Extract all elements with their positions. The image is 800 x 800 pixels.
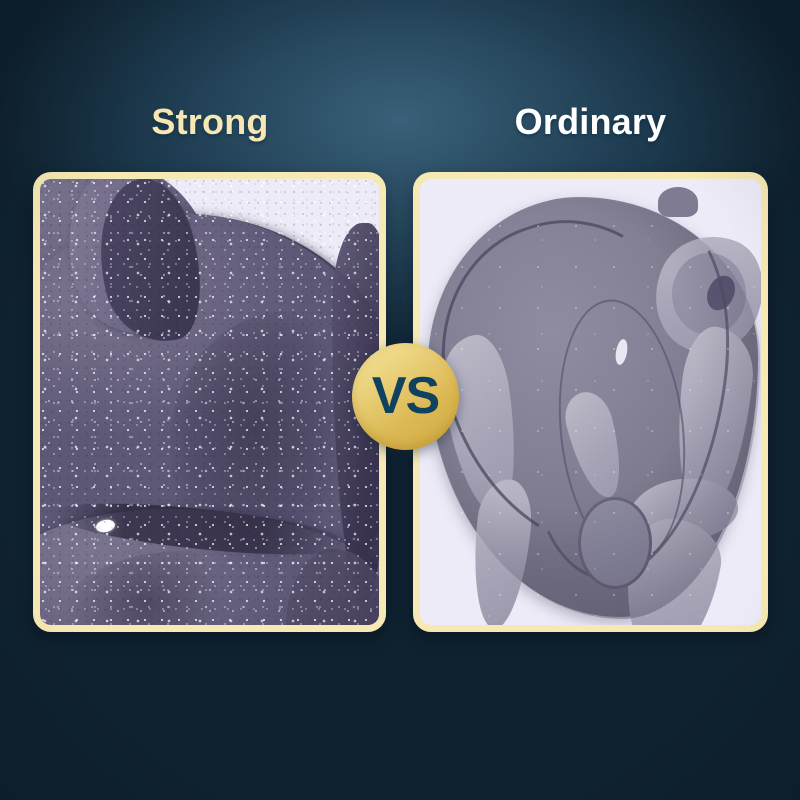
vs-badge: VS — [352, 343, 459, 450]
panel-ordinary — [413, 172, 768, 632]
panel-strong — [33, 172, 386, 632]
vs-label: VS — [372, 370, 439, 422]
comparison-graphic: Strong Ordinary — [0, 0, 800, 800]
heading-ordinary: Ordinary — [413, 104, 768, 140]
photo-ordinary — [420, 179, 761, 625]
heading-strong: Strong — [33, 104, 387, 140]
photo-strong — [40, 179, 379, 625]
